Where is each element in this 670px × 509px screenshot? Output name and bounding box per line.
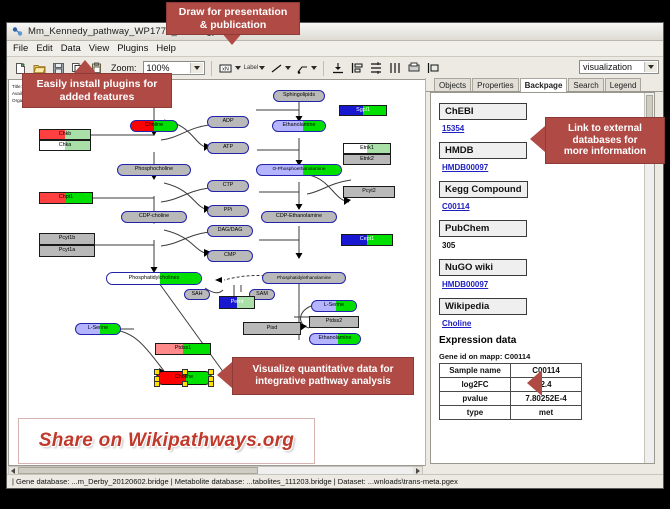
expression-table: Sample name C00114 log2FC 2.4 pvalue 7.8…	[439, 363, 582, 420]
menu-item-help[interactable]: Help	[156, 43, 176, 54]
share-banner: Share on Wikipathways.org	[18, 418, 315, 464]
resize-handle-s[interactable]	[182, 381, 188, 387]
db-name-label: Wikipedia	[439, 298, 527, 315]
screenshot-root: Mm_Kennedy_pathway_WP1771_45176.gpml Fil…	[0, 0, 670, 509]
callout-line: & publication	[200, 19, 267, 31]
order-front-icon[interactable]	[425, 60, 441, 76]
node-sah[interactable]: SAH	[184, 289, 210, 300]
menu-item-data[interactable]: Data	[61, 43, 81, 54]
table-row: type met	[440, 406, 582, 420]
resize-handle-se[interactable]	[208, 381, 214, 387]
node-label: PPi	[224, 208, 232, 213]
db-link[interactable]: C00114	[442, 202, 645, 211]
node-label: O-Phosphoethanolamine	[272, 168, 325, 173]
callout-line: Visualize quantitative data for	[253, 364, 394, 376]
menu-item-file[interactable]: File	[13, 43, 28, 54]
node-label: CDP-Ethanolamine	[276, 214, 322, 219]
table-row: log2FC 2.4	[440, 378, 582, 392]
toolbar-separator	[323, 61, 324, 76]
node-label: ATP	[223, 145, 233, 150]
node-atp[interactable]: ATP	[207, 142, 249, 154]
pathway-drawing[interactable]: Title: Availa Organ	[9, 80, 425, 465]
db-name-label: ChEBI	[439, 103, 527, 120]
node-label: SAM	[256, 292, 268, 297]
node-chkb[interactable]: Chkb	[39, 129, 91, 140]
pathvisio-icon	[12, 26, 23, 37]
chevron-down-icon[interactable]	[190, 63, 203, 73]
node-cmp[interactable]: CMP	[207, 250, 253, 262]
node-label: Phosphocholine	[135, 167, 173, 172]
share-text: Share on Wikipathways.org	[39, 430, 294, 452]
db-link[interactable]: HMDB00097	[442, 163, 645, 172]
align-bottom-icon[interactable]	[330, 60, 346, 76]
node-label: Ptdss1	[175, 346, 191, 351]
node-label: Ethanolamine	[283, 123, 316, 128]
scroll-right-icon[interactable]	[413, 467, 422, 474]
node-label: Pemt	[231, 300, 244, 305]
group-icon[interactable]	[406, 60, 422, 76]
db-link[interactable]: HMDB00097	[442, 280, 645, 289]
gene-id-label: Gene id on mapp: C00114	[439, 352, 645, 361]
node-l-serine-right[interactable]: L-Serine	[311, 300, 357, 312]
interaction-tool[interactable]	[294, 60, 317, 76]
resize-handle-ne[interactable]	[208, 369, 214, 375]
node-label: SAH	[191, 292, 202, 297]
node-label: Ptdss2	[326, 319, 342, 324]
db-pubchem: PubChem 305	[439, 218, 645, 250]
menu-item-edit[interactable]: Edit	[36, 43, 52, 54]
label-tool[interactable]: Label	[244, 65, 266, 71]
node-label: Phosphatidylethanolamine	[277, 276, 331, 281]
node-label: Pisd	[267, 326, 278, 331]
menu-item-plugins[interactable]: Plugins	[117, 43, 148, 54]
scroll-left-icon[interactable]	[9, 467, 18, 474]
node-cept1[interactable]: Cept1	[341, 234, 393, 246]
callout-draw: Draw for presentation & publication	[166, 2, 300, 35]
node-label: Pcyt1b	[59, 236, 75, 241]
tab-objects[interactable]: Objects	[434, 78, 471, 91]
row-value: C00114	[511, 364, 582, 378]
line-tool[interactable]	[268, 60, 291, 76]
node-label: CDP-choline	[139, 214, 169, 219]
node-label: Etnk2	[360, 157, 374, 162]
node-chpt1[interactable]: Chpt1	[39, 192, 93, 204]
node-label: Cept1	[360, 237, 374, 242]
tab-properties[interactable]: Properties	[472, 78, 518, 91]
row-value: met	[511, 406, 582, 420]
db-wikipedia: Wikipedia Choline	[439, 296, 645, 328]
node-ptdss2[interactable]: Ptdss2	[309, 316, 359, 328]
node-label: Choline	[175, 375, 193, 380]
node-phosphatidylethanolamine[interactable]: Phosphatidylethanolamine	[262, 272, 346, 284]
node-pemt[interactable]: Pemt	[219, 296, 255, 309]
menu-bar: File Edit Data View Plugins Help	[7, 41, 663, 57]
node-ctp[interactable]: CTP	[207, 180, 249, 192]
menu-item-view[interactable]: View	[89, 43, 109, 54]
toolbar-separator	[211, 61, 212, 76]
node-label: Pcyt2	[362, 189, 375, 194]
row-key: pvalue	[440, 392, 511, 406]
node-ethanolamine-top[interactable]: Ethanolamine	[272, 120, 326, 132]
interaction-icon[interactable]	[294, 60, 310, 76]
callout-visualize-arrow	[217, 362, 232, 388]
node-ethanolamine-bottom[interactable]: Ethanolamine	[309, 333, 361, 345]
label-tool-label: Label	[244, 65, 259, 71]
node-cdp-ethanolamine[interactable]: CDP-Ethanolamine	[261, 211, 337, 223]
node-label: Phosphatidylcholines	[129, 276, 180, 281]
node-pcyt1b[interactable]: Pcyt1b	[39, 233, 95, 245]
db-name-label: PubChem	[439, 220, 527, 237]
tab-legend[interactable]: Legend	[605, 78, 642, 91]
db-nugo-wiki: NuGO wiki HMDB00097	[439, 257, 645, 289]
node-sgpl1[interactable]: Sgpl1	[339, 105, 387, 116]
callout-line: Draw for presentation	[179, 6, 288, 18]
db-name-label: NuGO wiki	[439, 259, 527, 276]
row-key: Sample name	[440, 364, 511, 378]
table-row: pvalue 7.80252E-4	[440, 392, 582, 406]
node-label: CMP	[224, 253, 236, 258]
node-label: Sphingolipids	[283, 93, 315, 98]
db-link[interactable]: Choline	[442, 319, 645, 328]
table-row: Sample name C00114	[440, 364, 582, 378]
status-bar: | Gene database: ...m_Derby_20120602.bri…	[7, 474, 663, 488]
svg-text:xN: xN	[222, 66, 229, 72]
node-choline-selected[interactable]: Choline	[156, 371, 212, 385]
node-chka[interactable]: Chka	[39, 140, 91, 151]
callout-line: added features	[60, 91, 135, 103]
node-choline-top[interactable]: Choline	[130, 120, 178, 132]
node-label: ADP	[222, 119, 233, 124]
callout-visualize: Visualize quantitative data for integrat…	[232, 357, 414, 395]
db-value: 305	[442, 241, 645, 250]
callout-line: integrative pathway analysis	[255, 376, 391, 388]
db-name-label: HMDB	[439, 142, 527, 159]
callout-line: databases for	[572, 135, 637, 147]
node-label: L-Serine	[88, 326, 108, 331]
node-label: Sgpl1	[356, 108, 370, 113]
node-pcyt2[interactable]: Pcyt2	[343, 186, 395, 198]
datanode-tool[interactable]: xN	[218, 60, 241, 76]
status-text: | Gene database: ...m_Derby_20120602.bri…	[7, 477, 458, 486]
callout-links-arrow	[530, 126, 545, 152]
callout-line: Link to external	[568, 123, 642, 135]
tab-backpage[interactable]: Backpage	[520, 78, 568, 92]
node-cdp-choline[interactable]: CDP-choline	[121, 211, 187, 223]
scrollbar-thumb[interactable]	[18, 467, 258, 474]
node-label: Ethanolamine	[319, 336, 352, 341]
resize-handle-sw[interactable]	[154, 381, 160, 387]
pathway-canvas[interactable]: Title: Availa Organ	[8, 79, 425, 466]
node-pisd[interactable]: Pisd	[243, 322, 301, 335]
tab-search[interactable]: Search	[568, 78, 603, 91]
callout-expression-arrow	[527, 370, 542, 396]
node-adp[interactable]: ADP	[207, 116, 249, 128]
row-value: 2.4	[511, 378, 582, 392]
node-l-serine-left[interactable]: L-Serine	[75, 323, 121, 335]
distribute-horizontal-icon[interactable]	[387, 60, 403, 76]
callout-line: Easily install plugins for	[37, 78, 158, 90]
node-label: DAG/DAG	[218, 228, 243, 233]
db-name-label: Kegg Compound	[439, 181, 528, 198]
node-phosphocholine[interactable]: Phosphocholine	[117, 164, 191, 176]
line-icon[interactable]	[268, 60, 284, 76]
node-phosphatidylcholines[interactable]: Phosphatidylcholines	[106, 272, 202, 285]
callout-plugins: Easily install plugins for added feature…	[22, 73, 172, 108]
node-pcyt1a[interactable]: Pcyt1a	[39, 245, 95, 257]
datanode-icon[interactable]: xN	[218, 60, 234, 76]
node-etnk2[interactable]: Etnk2	[343, 154, 391, 165]
node-ptdss1[interactable]: Ptdss1	[155, 343, 211, 355]
node-etnk1[interactable]: Etnk1	[343, 143, 391, 154]
expression-data-heading: Expression data	[439, 335, 645, 346]
node-o-phosphoethanolamine[interactable]: O-Phosphoethanolamine	[256, 164, 342, 176]
node-dagdag[interactable]: DAG/DAG	[207, 225, 253, 237]
sidebar-tab-row: Objects Properties Backpage Search Legen…	[426, 78, 663, 92]
zoom-value: 100%	[147, 63, 170, 73]
node-label: Pcyt1a	[59, 248, 75, 253]
node-label: L-Serine	[324, 303, 344, 308]
title-bar: Mm_Kennedy_pathway_WP1771_45176.gpml	[7, 23, 663, 41]
callout-line: more information	[564, 146, 646, 158]
row-key: log2FC	[440, 378, 511, 392]
node-label: Chpt1	[59, 195, 73, 200]
node-label: Choline	[145, 123, 163, 128]
chevron-down-icon[interactable]	[644, 62, 657, 72]
node-label: Etnk1	[360, 146, 374, 151]
node-label: CTP	[223, 183, 234, 188]
callout-links: Link to external databases for more info…	[545, 117, 665, 164]
visualization-value: visualization	[583, 62, 632, 72]
visualization-combo[interactable]: visualization	[579, 60, 659, 74]
node-label: Chka	[59, 143, 72, 148]
distribute-vertical-icon[interactable]	[368, 60, 384, 76]
row-value: 7.80252E-4	[511, 392, 582, 406]
node-label: Chkb	[59, 132, 72, 137]
resize-handle-nw[interactable]	[154, 369, 160, 375]
zoom-label: Zoom:	[111, 63, 137, 73]
node-ppi[interactable]: PPi	[207, 205, 249, 217]
align-left-icon[interactable]	[349, 60, 365, 76]
node-sphingolipids[interactable]: Sphingolipids	[273, 90, 325, 102]
callout-plugins-arrow	[74, 60, 96, 73]
db-kegg-compound: Kegg Compound C00114	[439, 179, 645, 211]
row-key: type	[440, 406, 511, 420]
